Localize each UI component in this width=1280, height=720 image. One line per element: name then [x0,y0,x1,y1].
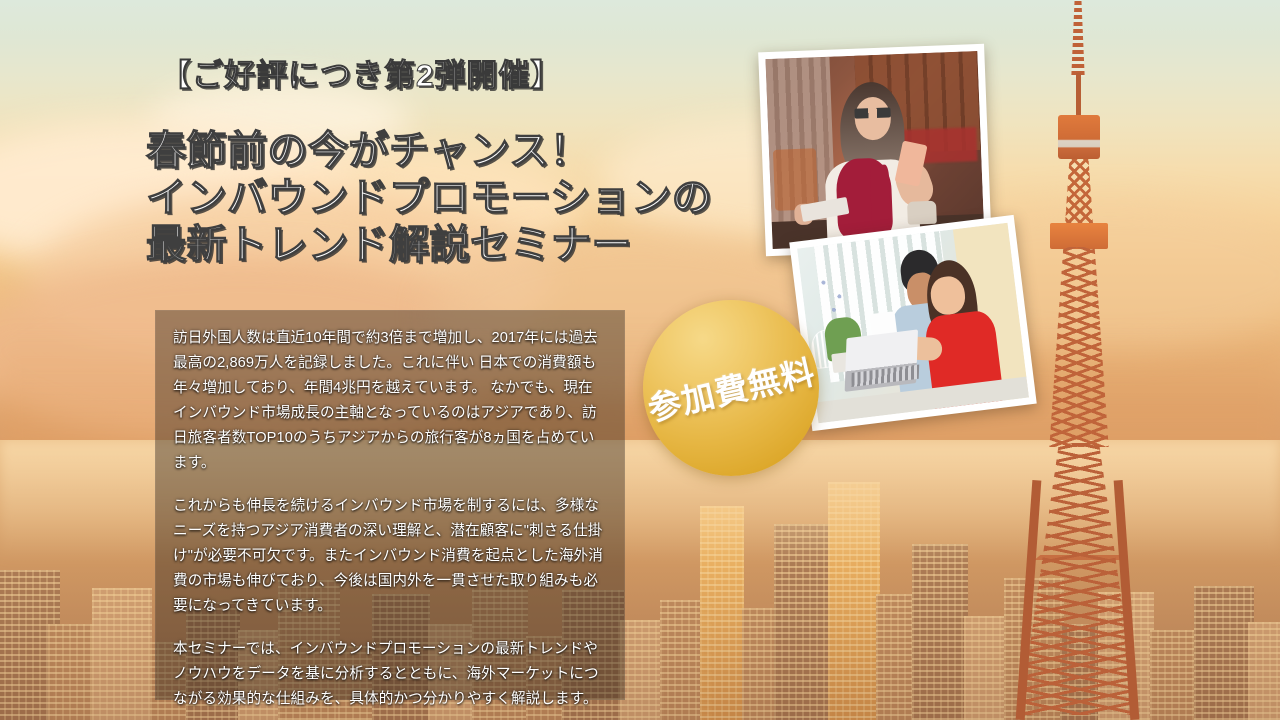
free-admission-badge: 参加費無料 [643,300,819,476]
headline-line-3: 最新トレンド解説セミナー [146,222,712,269]
page-title: 春節前の今がチャンス！ インバウンドプロモーションの 最新トレンド解説セミナー [146,128,712,269]
free-admission-label: 参加費無料 [643,345,819,430]
description-panel: 訪日外国人数は直近10年間で約3倍まで増加し、2017年には過去最高の2,869… [155,310,625,700]
description-paragraph-3: 本セミナーでは、インバウンドプロモーションの最新トレンドやノウハウをデータを基に… [173,637,607,712]
headline-line-1: 春節前の今がチャンス！ [146,128,712,175]
photo-couple-laptop [789,215,1036,431]
headline-line-2: インバウンドプロモーションの [146,175,712,222]
seminar-poster: 【ご好評につき第2弾開催】 春節前の今がチャンス！ インバウンドプロモーションの… [0,0,1280,720]
kicker-label: 【ご好評につき第2弾開催】 [160,50,562,95]
description-paragraph-1: 訪日外国人数は直近10年間で約3倍まで増加し、2017年には過去最高の2,869… [173,326,607,476]
description-paragraph-2: これからも伸長を続けるインバウンド市場を制するには、多様なニーズを持つアジア消費… [173,494,607,619]
